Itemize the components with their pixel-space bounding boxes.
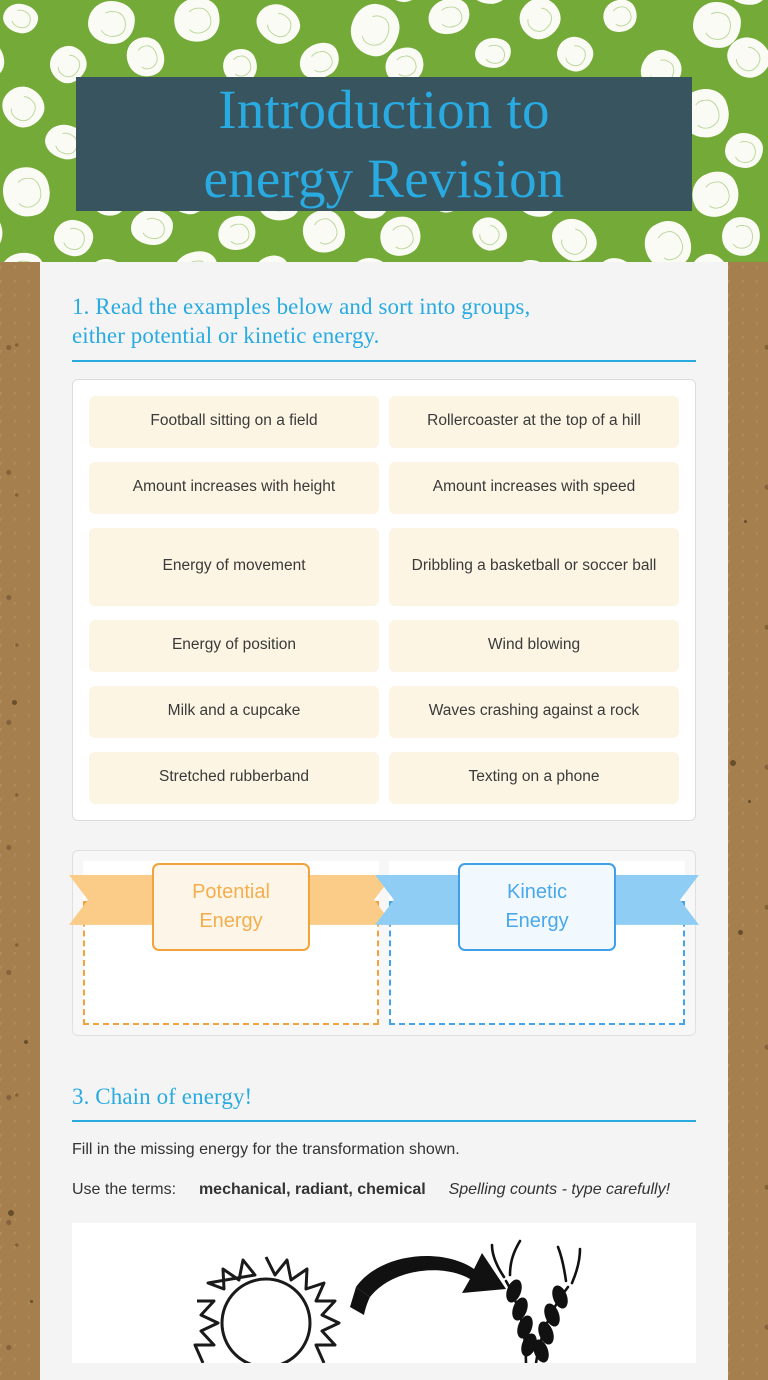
- doodle-circle: [213, 211, 261, 256]
- doodle-circle: [250, 0, 306, 50]
- doodle-circle: [0, 80, 51, 136]
- doodle-circle: [685, 250, 731, 262]
- question-3-heading: 3. Chain of energy!: [72, 1082, 696, 1111]
- wheat-icon: [492, 1241, 580, 1363]
- paper-speck: [8, 1210, 14, 1216]
- sortable-item-card[interactable]: Texting on a phone: [389, 752, 679, 804]
- doodle-circle: [166, 244, 226, 262]
- doodle-circle: [382, 0, 425, 3]
- paper-speck: [730, 760, 736, 766]
- ribbon-wing-right: [613, 875, 699, 925]
- sortable-item-card[interactable]: Wind blowing: [389, 620, 679, 672]
- doodle-circle: [373, 210, 427, 262]
- zone-label-kinetic: Kinetic Energy: [458, 863, 616, 951]
- sortable-item-label: Energy of movement: [162, 556, 305, 577]
- doodle-circle: [553, 32, 597, 75]
- sortable-item-label: Stretched rubberband: [159, 767, 309, 788]
- doodle-circle: [0, 116, 2, 166]
- question-3-section: 3. Chain of energy! Fill in the missing …: [72, 1082, 696, 1363]
- ribbon-wing-right: [307, 875, 393, 925]
- sortable-item-label: Amount increases with speed: [433, 477, 635, 498]
- sortable-items-panel: Football sitting on a fieldRollercoaster…: [72, 379, 696, 821]
- terms-word-bank: mechanical, radiant, chemical: [199, 1181, 426, 1198]
- heading-rule: [72, 360, 696, 362]
- ribbon-wing-left: [69, 875, 155, 925]
- doodle-circle: [0, 160, 57, 223]
- sortable-item-card[interactable]: Amount increases with height: [89, 462, 379, 514]
- sortable-item-card[interactable]: Stretched rubberband: [89, 752, 379, 804]
- terms-prefix: Use the terms:: [72, 1181, 176, 1198]
- sun-icon: [195, 1257, 339, 1363]
- sortable-item-card[interactable]: Waves crashing against a rock: [389, 686, 679, 738]
- chain-of-energy-image-panel: [72, 1223, 696, 1363]
- ribbon-wing-left: [375, 875, 461, 925]
- sortable-item-label: Rollercoaster at the top of a hill: [427, 411, 641, 432]
- doodle-circle: [725, 133, 763, 168]
- sortable-item-label: Amount increases with height: [133, 477, 335, 498]
- sort-zone-potential[interactable]: Potential Energy: [83, 861, 379, 1025]
- doodle-circle: [0, 249, 47, 262]
- sortable-item-label: Football sitting on a field: [150, 411, 317, 432]
- question-1-section: 1. Read the examples below and sort into…: [72, 262, 696, 821]
- terms-spelling-note: Spelling counts - type carefully!: [449, 1181, 670, 1198]
- doodle-circle: [512, 0, 567, 46]
- paper-speck: [24, 1040, 28, 1044]
- curved-arrow-icon: [350, 1253, 506, 1315]
- doodle-circle: [248, 249, 295, 262]
- sortable-item-card[interactable]: Football sitting on a field: [89, 396, 379, 448]
- sort-zone-kinetic[interactable]: Kinetic Energy: [389, 861, 685, 1025]
- sort-zones-panel: Potential EnergyKinetic Energy: [72, 850, 696, 1036]
- doodle-circle: [543, 210, 604, 262]
- question-3-terms: Use the terms: mechanical, radiant, chem…: [72, 1178, 696, 1202]
- doodle-circle: [720, 214, 764, 258]
- doodle-circle: [597, 0, 642, 38]
- doodle-circle: [0, 1, 40, 36]
- sortable-item-card[interactable]: Rollercoaster at the top of a hill: [389, 396, 679, 448]
- sortable-item-card[interactable]: Energy of movement: [89, 528, 379, 606]
- chain-of-energy-figure: [174, 1231, 594, 1363]
- question-1-heading: 1. Read the examples below and sort into…: [72, 292, 696, 351]
- paper-speck: [738, 930, 743, 935]
- doodle-circle: [0, 34, 11, 85]
- sortable-item-label: Energy of position: [172, 635, 296, 656]
- worksheet-sheet: 1. Read the examples below and sort into…: [40, 262, 728, 1380]
- question-3-instruction: Fill in the missing energy for the trans…: [72, 1138, 696, 1162]
- doodle-circle: [474, 36, 514, 70]
- zone-label-potential: Potential Energy: [152, 863, 310, 951]
- paper-speck: [748, 800, 751, 803]
- paper-speck: [30, 1300, 33, 1303]
- paper-speck: [744, 520, 747, 523]
- sortable-item-label: Texting on a phone: [469, 767, 600, 788]
- doodle-circle: [131, 210, 173, 246]
- doodle-circle: [119, 31, 171, 84]
- doodle-circle: [0, 203, 12, 262]
- page-title: Introduction to energy Revision: [204, 75, 565, 214]
- sortable-item-label: Milk and a cupcake: [168, 701, 301, 722]
- worksheet-title-banner: Introduction to energy Revision: [76, 77, 692, 211]
- doodle-circle: [168, 0, 225, 47]
- sortable-item-card[interactable]: Amount increases with speed: [389, 462, 679, 514]
- doodle-circle: [87, 0, 137, 46]
- sortable-item-label: Waves crashing against a rock: [429, 701, 640, 722]
- doodle-circle: [636, 212, 701, 262]
- heading-rule: [72, 1120, 696, 1122]
- sortable-item-label: Wind blowing: [488, 635, 580, 656]
- paper-speck: [12, 700, 17, 705]
- sortable-item-label: Dribbling a basketball or soccer ball: [412, 556, 657, 577]
- doodle-circle: [466, 211, 513, 257]
- doodle-circle: [423, 0, 474, 40]
- doodle-circle: [52, 217, 96, 258]
- doodle-circle: [633, 0, 681, 5]
- doodle-circle: [685, 163, 748, 225]
- doodle-circle: [305, 0, 351, 2]
- sortable-item-card[interactable]: Energy of position: [89, 620, 379, 672]
- sortable-item-card[interactable]: Dribbling a basketball or soccer ball: [389, 528, 679, 606]
- sortable-item-card[interactable]: Milk and a cupcake: [89, 686, 379, 738]
- doodle-circle: [467, 0, 513, 6]
